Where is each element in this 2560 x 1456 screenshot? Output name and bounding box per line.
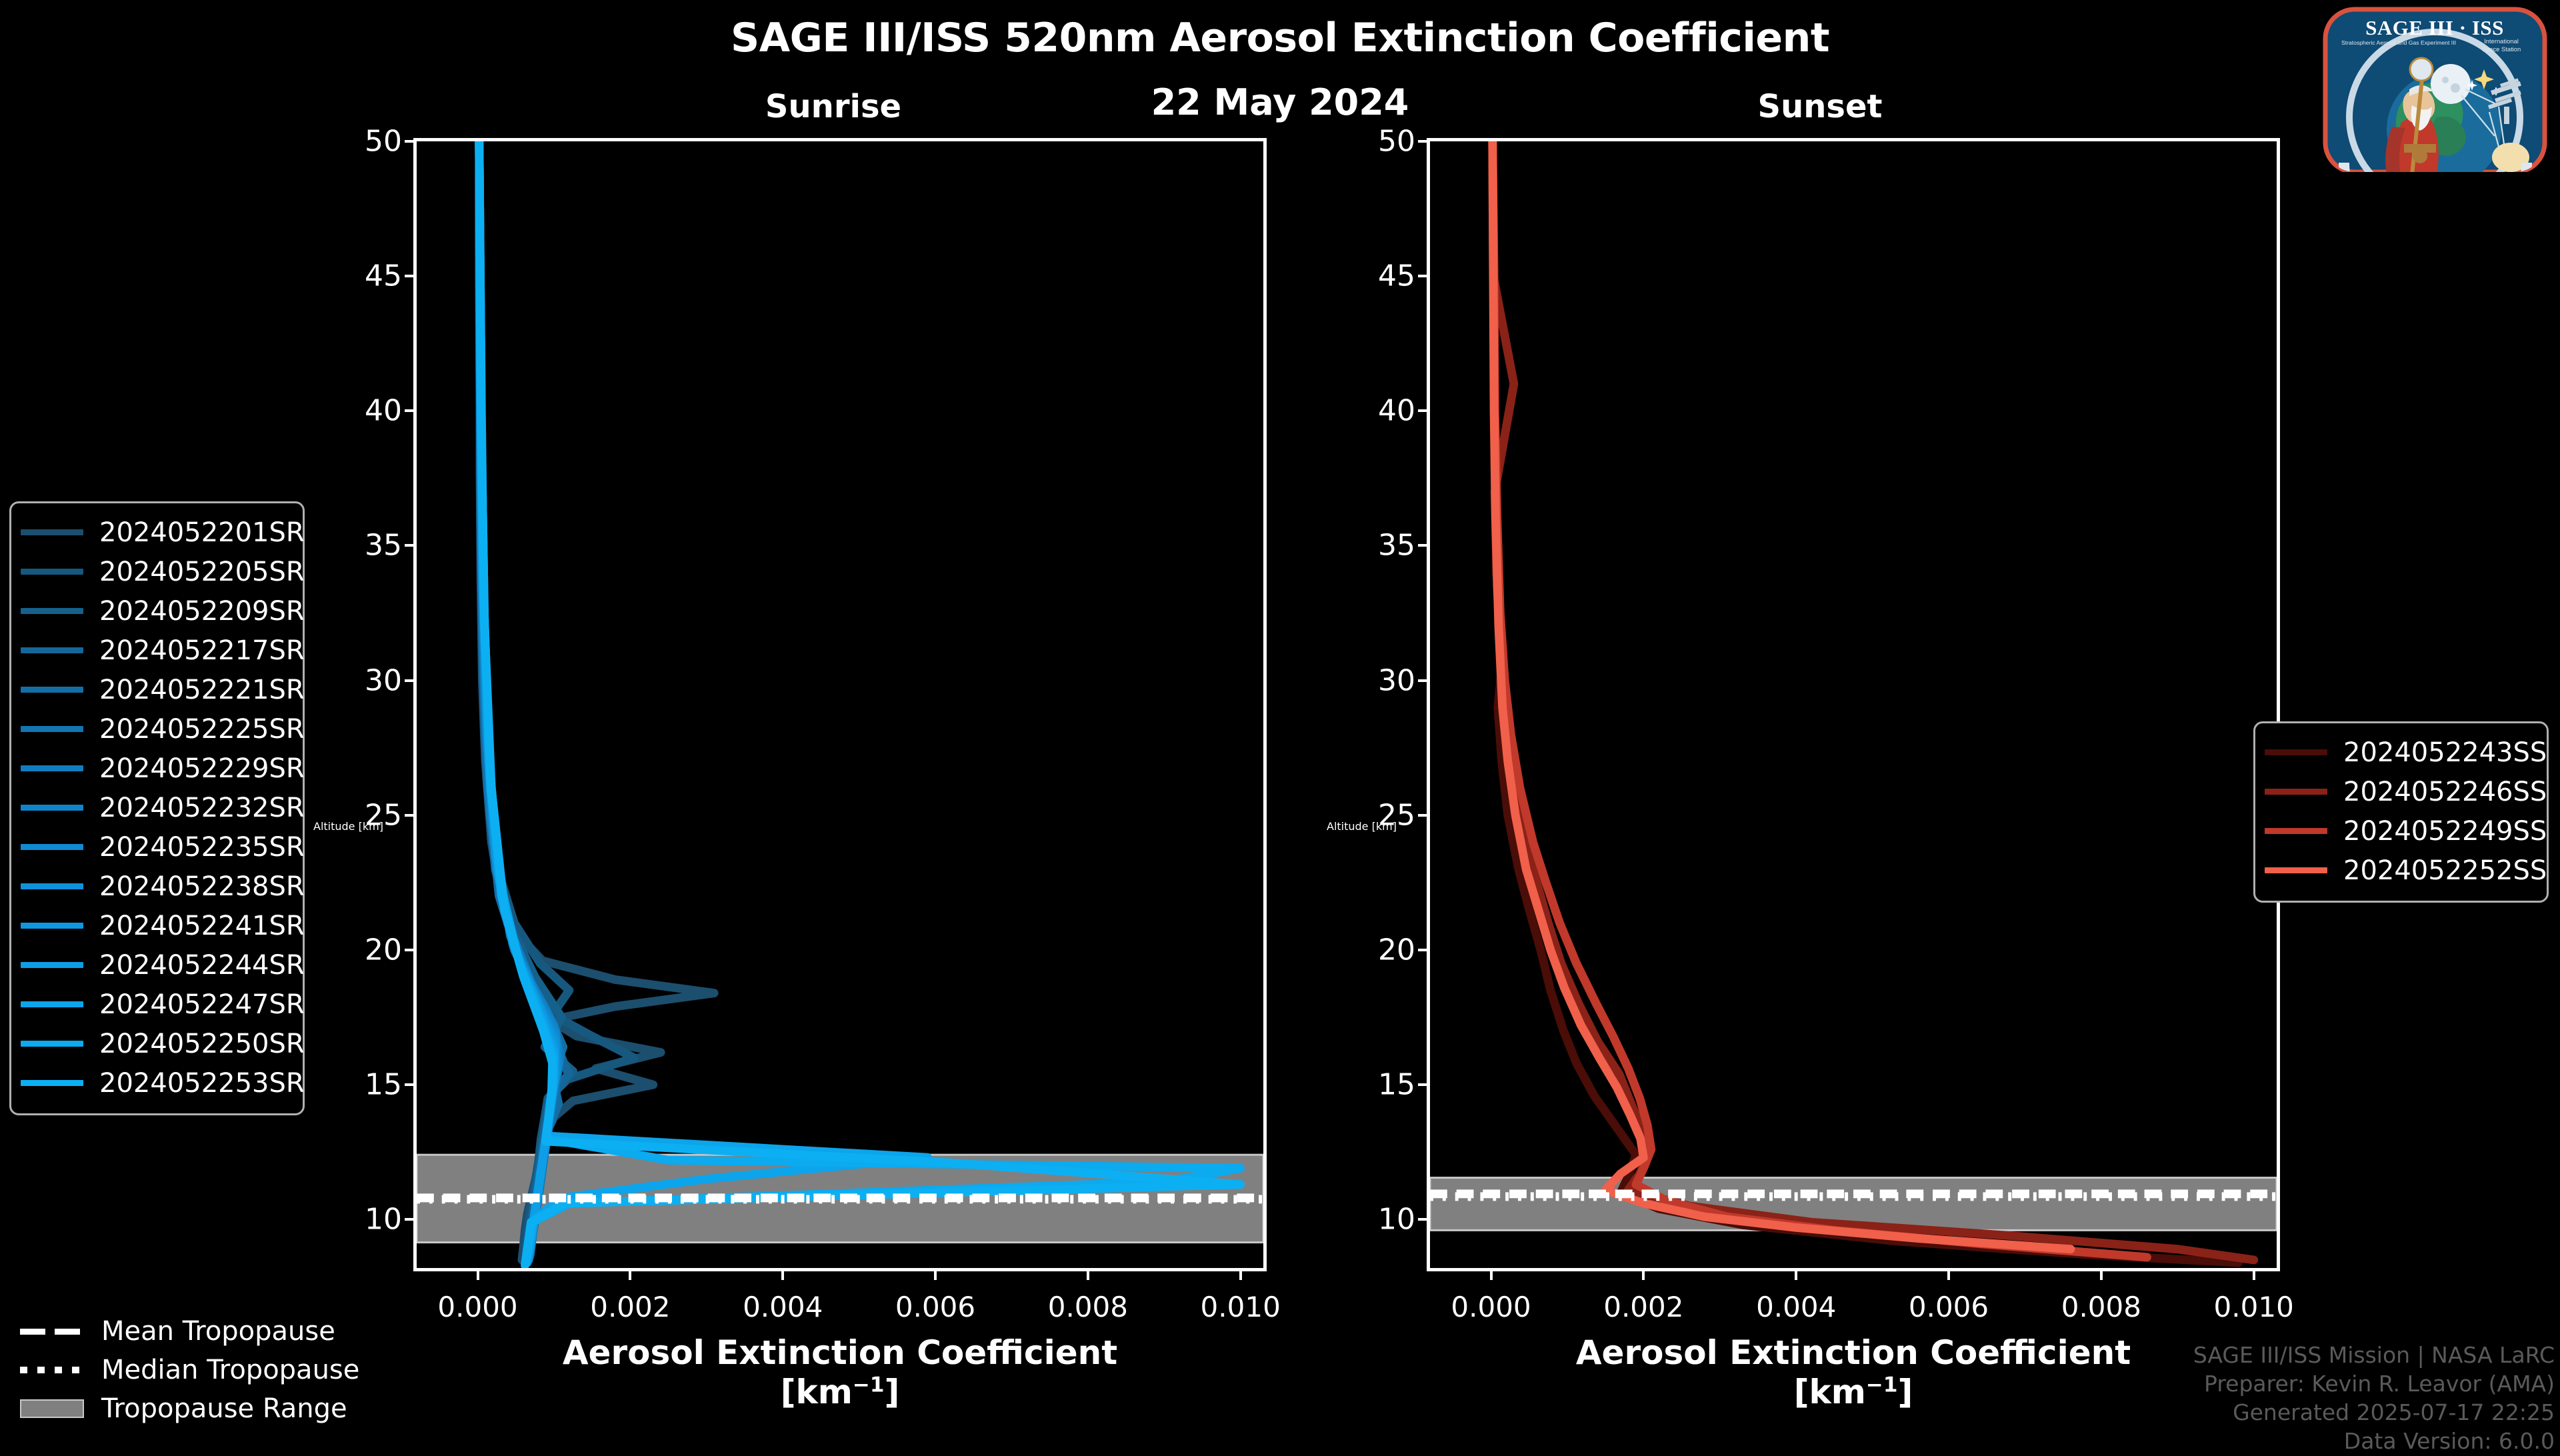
legend-item-mean-tropopause: Mean Tropopause bbox=[20, 1312, 359, 1351]
x-axis-tick-label: 0.010 bbox=[2214, 1291, 2294, 1323]
legend-sunrise-item[interactable]: 2024052238SR bbox=[21, 867, 291, 906]
y-axis-tick-mark bbox=[1418, 814, 1430, 817]
legend-sunset-item[interactable]: 2024052252SS bbox=[2265, 851, 2535, 890]
x-axis-tick-label: 0.010 bbox=[1201, 1291, 1281, 1323]
logo-subtitle-right-2: Space Station bbox=[2482, 45, 2521, 53]
plot-area-sunrise bbox=[417, 141, 1263, 1268]
legend-item-label: 2024052247SR bbox=[99, 989, 305, 1020]
page-subtitle: 22 May 2024 bbox=[0, 81, 2560, 123]
legend-item-label: 2024052221SR bbox=[99, 675, 305, 705]
x-axis-tick-mark bbox=[934, 1268, 937, 1280]
y-axis-tick-label: 15 bbox=[365, 1068, 402, 1102]
y-axis-tick-mark bbox=[405, 814, 417, 817]
legend-item-label: 2024052201SR bbox=[99, 517, 305, 548]
y-axis-tick-label: 20 bbox=[1378, 933, 1415, 967]
legend-sunrise-item[interactable]: 2024052217SR bbox=[21, 631, 291, 670]
y-axis-tick-label: 10 bbox=[1378, 1203, 1415, 1237]
dashed-line-icon bbox=[20, 1323, 84, 1340]
x-axis-tick-mark bbox=[2100, 1268, 2103, 1280]
y-axis-tick-mark bbox=[1418, 275, 1430, 277]
legend-label-tropopause-range: Tropopause Range bbox=[101, 1393, 347, 1424]
y-axis-tick-mark bbox=[405, 1083, 417, 1086]
y-axis-tick-label: 30 bbox=[365, 663, 402, 697]
y-axis-tick-mark bbox=[405, 679, 417, 682]
legend-item-label: 2024052225SR bbox=[99, 714, 305, 745]
y-axis-tick-mark bbox=[1418, 949, 1430, 951]
legend-item-label: 2024052250SR bbox=[99, 1029, 305, 1059]
dotted-line-icon bbox=[20, 1361, 84, 1379]
footer-line-preparer: Preparer: Kevin R. Leavor (AMA) bbox=[2193, 1370, 2555, 1399]
legend-color-swatch bbox=[21, 1080, 83, 1086]
y-axis-tick-label: 45 bbox=[1378, 259, 1415, 293]
legend-item-median-tropopause: Median Tropopause bbox=[20, 1351, 359, 1389]
x-axis-tick-mark bbox=[629, 1268, 631, 1280]
legend-sunset-item[interactable]: 2024052249SS bbox=[2265, 811, 2535, 851]
legend-label-mean-tropopause: Mean Tropopause bbox=[101, 1316, 335, 1347]
y-axis-tick-mark bbox=[1418, 409, 1430, 412]
legend-item-label: 2024052238SR bbox=[99, 871, 305, 902]
legend-item-label: 2024052253SR bbox=[99, 1068, 305, 1099]
footer-line-mission: SAGE III/ISS Mission | NASA LaRC bbox=[2193, 1341, 2555, 1370]
y-axis-title-text: Altitude [km] bbox=[1327, 820, 1397, 833]
y-axis-tick-mark bbox=[405, 140, 417, 143]
legend-sunrise-item[interactable]: 2024052201SR bbox=[21, 513, 291, 552]
x-axis-tick-mark bbox=[1642, 1268, 1645, 1280]
y-axis-tick-label: 35 bbox=[1378, 529, 1415, 563]
y-axis-tick-mark bbox=[1418, 1218, 1430, 1221]
legend-color-swatch bbox=[21, 923, 83, 929]
legend-sunrise-item[interactable]: 2024052235SR bbox=[21, 827, 291, 867]
x-axis-tick-mark bbox=[1947, 1268, 1950, 1280]
x-axis-tick-label: 0.008 bbox=[2061, 1291, 2141, 1323]
footer-line-generated: Generated 2025-07-17 22:25 bbox=[2193, 1399, 2555, 1427]
data-series-line bbox=[479, 141, 714, 1260]
y-axis-tick-label: 45 bbox=[365, 259, 402, 293]
legend-sunrise-item[interactable]: 2024052205SR bbox=[21, 552, 291, 591]
x-axis-tick-mark bbox=[781, 1268, 784, 1280]
legend-color-swatch bbox=[2265, 867, 2327, 873]
y-axis-tick-mark bbox=[1418, 140, 1430, 143]
plot-panel-sunrise: 1015202530354045500.0000.0020.0040.0060.… bbox=[413, 138, 1267, 1271]
legend-sunrise-item[interactable]: 2024052232SR bbox=[21, 788, 291, 827]
logo-subtitle-left: Stratospheric Aerosol and Gas Experiment… bbox=[2341, 39, 2456, 46]
x-axis-tick-label: 0.000 bbox=[1451, 1291, 1531, 1323]
plot-panel-sunset: 1015202530354045500.0000.0020.0040.0060.… bbox=[1427, 138, 2280, 1271]
legend-color-swatch bbox=[21, 569, 83, 575]
legend-color-swatch bbox=[21, 726, 83, 732]
y-axis-title-sunrise: Altitude [km] bbox=[313, 820, 383, 833]
legend-sunset-item[interactable]: 2024052246SS bbox=[2265, 772, 2535, 811]
sage3-iss-mission-logo: BALL · NASA LANGLEY RESEARCH CENTER · ES… bbox=[2320, 5, 2550, 172]
legend-item-label: 2024052246SS bbox=[2343, 777, 2547, 807]
x-axis-tick-label: 0.000 bbox=[437, 1291, 517, 1323]
x-axis-title-text: Aerosol Extinction Coefficient bbox=[1576, 1333, 2131, 1372]
y-axis-tick-label: 50 bbox=[1378, 125, 1415, 159]
legend-sunset: 2024052243SS2024052246SS2024052249SS2024… bbox=[2253, 721, 2549, 903]
legend-sunrise-item[interactable]: 2024052250SR bbox=[21, 1024, 291, 1063]
y-axis-tick-mark bbox=[405, 409, 417, 412]
plot-area-sunset bbox=[1430, 141, 2277, 1268]
logo-title: SAGE III · ISS bbox=[2365, 16, 2504, 39]
legend-sunrise-item[interactable]: 2024052225SR bbox=[21, 709, 291, 749]
tropopause-legend: Mean Tropopause Median Tropopause Tropop… bbox=[20, 1312, 359, 1428]
y-axis-tick-label: 35 bbox=[365, 529, 402, 563]
x-axis-tick-label: 0.006 bbox=[1909, 1291, 1989, 1323]
panel-title-sunrise: Sunrise bbox=[633, 88, 1033, 125]
y-axis-tick-label: 40 bbox=[365, 394, 402, 428]
y-axis-tick-label: 30 bbox=[1378, 663, 1415, 697]
legend-item-label: 2024052229SR bbox=[99, 753, 305, 784]
data-series-line bbox=[1493, 141, 2239, 1263]
band-swatch-icon bbox=[20, 1399, 84, 1418]
legend-item-label: 2024052249SS bbox=[2343, 816, 2547, 847]
data-series-line bbox=[1493, 141, 2071, 1249]
legend-color-swatch bbox=[21, 687, 83, 693]
x-axis-tick-mark bbox=[1795, 1268, 1797, 1280]
panel-title-sunset: Sunset bbox=[1620, 88, 2020, 125]
y-axis-tick-mark bbox=[405, 949, 417, 951]
y-axis-title-text: Altitude [km] bbox=[313, 820, 383, 833]
legend-color-swatch bbox=[21, 1041, 83, 1047]
legend-sunset-item[interactable]: 2024052243SS bbox=[2265, 733, 2535, 772]
legend-sunrise: 2024052201SR2024052205SR2024052209SR2024… bbox=[9, 501, 305, 1115]
legend-sunrise-item[interactable]: 2024052229SR bbox=[21, 749, 291, 788]
legend-item-label: 2024052209SR bbox=[99, 596, 305, 627]
y-axis-tick-label: 15 bbox=[1378, 1068, 1415, 1102]
legend-item-label: 2024052232SR bbox=[99, 793, 305, 823]
y-axis-tick-mark bbox=[405, 544, 417, 547]
x-axis-tick-mark bbox=[2253, 1268, 2255, 1280]
legend-sunrise-item[interactable]: 2024052241SR bbox=[21, 906, 291, 945]
y-axis-tick-mark bbox=[405, 1218, 417, 1221]
legend-item-label: 2024052217SR bbox=[99, 635, 305, 666]
page-title: SAGE III/ISS 520nm Aerosol Extinction Co… bbox=[0, 15, 2560, 61]
x-axis-unit-text: [km−1] bbox=[1430, 1373, 2277, 1412]
x-axis-title: Aerosol Extinction Coefficient[km−1] bbox=[1430, 1333, 2277, 1412]
x-axis-tick-label: 0.002 bbox=[1603, 1291, 1683, 1323]
x-axis-tick-mark bbox=[477, 1268, 479, 1280]
x-axis-tick-mark bbox=[1087, 1268, 1089, 1280]
x-axis-unit-text: [km−1] bbox=[417, 1373, 1263, 1412]
data-series-line bbox=[1493, 141, 2254, 1260]
legend-sunrise-item[interactable]: 2024052247SR bbox=[21, 985, 291, 1024]
x-axis-title: Aerosol Extinction Coefficient[km−1] bbox=[417, 1333, 1263, 1412]
y-axis-tick-mark bbox=[1418, 679, 1430, 682]
x-axis-title-text: Aerosol Extinction Coefficient bbox=[563, 1333, 1117, 1372]
legend-item-label: 2024052235SR bbox=[99, 832, 305, 863]
legend-color-swatch bbox=[21, 647, 83, 653]
y-axis-tick-mark bbox=[1418, 1083, 1430, 1086]
x-axis-tick-label: 0.008 bbox=[1048, 1291, 1128, 1323]
legend-color-swatch bbox=[21, 765, 83, 771]
x-axis-tick-label: 0.004 bbox=[743, 1291, 823, 1323]
y-axis-tick-label: 20 bbox=[365, 933, 402, 967]
logo-subtitle-right-1: International bbox=[2484, 37, 2519, 45]
legend-color-swatch bbox=[21, 883, 83, 889]
x-axis-tick-label: 0.004 bbox=[1756, 1291, 1836, 1323]
footer-credit: SAGE III/ISS Mission | NASA LaRC Prepare… bbox=[2193, 1341, 2555, 1456]
legend-color-swatch bbox=[21, 1001, 83, 1007]
legend-color-swatch bbox=[21, 608, 83, 614]
legend-sunrise-item[interactable]: 2024052221SR bbox=[21, 670, 291, 709]
legend-color-swatch bbox=[21, 529, 83, 535]
legend-label-median-tropopause: Median Tropopause bbox=[101, 1355, 359, 1385]
legend-color-swatch bbox=[21, 844, 83, 850]
legend-item-label: 2024052252SS bbox=[2343, 855, 2547, 886]
legend-item-label: 2024052241SR bbox=[99, 911, 305, 941]
legend-color-swatch bbox=[2265, 749, 2327, 755]
y-axis-tick-mark bbox=[1418, 544, 1430, 547]
x-axis-tick-label: 0.006 bbox=[895, 1291, 975, 1323]
y-axis-tick-label: 40 bbox=[1378, 394, 1415, 428]
legend-sunrise-item[interactable]: 2024052209SR bbox=[21, 591, 291, 631]
y-axis-tick-label: 50 bbox=[365, 125, 402, 159]
legend-item-tropopause-range: Tropopause Range bbox=[20, 1389, 359, 1428]
legend-color-swatch bbox=[21, 962, 83, 968]
y-axis-tick-mark bbox=[405, 275, 417, 277]
y-axis-tick-label: 10 bbox=[365, 1203, 402, 1237]
y-axis-title-sunset: Altitude [km] bbox=[1327, 820, 1397, 833]
legend-item-label: 2024052244SR bbox=[99, 950, 305, 981]
legend-color-swatch bbox=[2265, 828, 2327, 834]
legend-color-swatch bbox=[21, 805, 83, 811]
legend-sunrise-item[interactable]: 2024052244SR bbox=[21, 945, 291, 985]
x-axis-tick-mark bbox=[1239, 1268, 1242, 1280]
legend-color-swatch bbox=[2265, 789, 2327, 795]
legend-item-label: 2024052243SS bbox=[2343, 737, 2547, 768]
legend-item-label: 2024052205SR bbox=[99, 557, 305, 587]
footer-line-data-version: Data Version: 6.0.0 bbox=[2193, 1427, 2555, 1456]
x-axis-tick-label: 0.002 bbox=[590, 1291, 670, 1323]
x-axis-tick-mark bbox=[1490, 1268, 1493, 1280]
legend-sunrise-item[interactable]: 2024052253SR bbox=[21, 1063, 291, 1103]
